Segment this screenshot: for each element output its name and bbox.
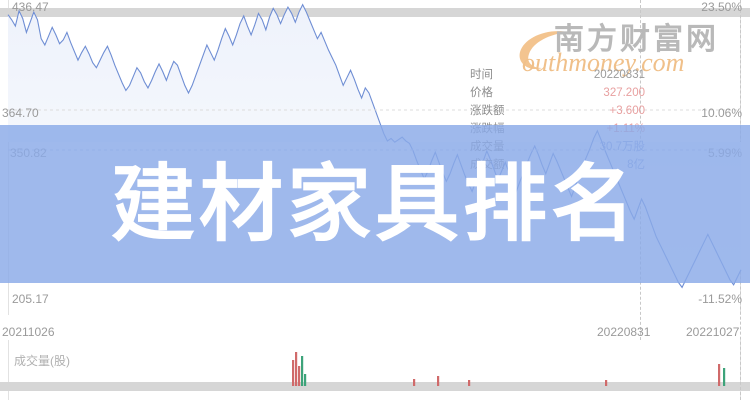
tooltip-value: 327.200 bbox=[603, 84, 645, 102]
volume-bar bbox=[413, 379, 415, 386]
volume-bar bbox=[437, 376, 439, 386]
volume-axis-caption: 成交量(股) bbox=[14, 352, 70, 369]
tooltip-key: 涨跌额 bbox=[470, 102, 505, 120]
date-tick-mid: 20220831 bbox=[597, 325, 650, 339]
stock-chart-screenshot: 436.47 364.70 350.82 205.17 23.50% 10.06… bbox=[0, 0, 750, 400]
price-tick-0: 436.47 bbox=[12, 0, 49, 14]
percent-tick-3: -11.52% bbox=[698, 292, 742, 306]
tooltip-value: +3.600 bbox=[610, 102, 646, 120]
tooltip-key: 价格 bbox=[470, 84, 493, 102]
tooltip-row: 涨跌额 +3.600 bbox=[470, 102, 645, 120]
overlay-title: 建材家具排名 bbox=[111, 162, 639, 246]
volume-bar bbox=[718, 364, 720, 386]
volume-bar bbox=[301, 356, 303, 386]
volume-bar bbox=[723, 368, 725, 386]
volume-bar bbox=[292, 360, 294, 386]
percent-tick-0: 23.50% bbox=[701, 0, 742, 14]
tooltip-value: 20220831 bbox=[594, 66, 645, 84]
tooltip-key: 时间 bbox=[470, 66, 493, 84]
tooltip-row: 价格 327.200 bbox=[470, 84, 645, 102]
date-tick-end: 20221027 bbox=[686, 325, 739, 339]
tooltip-row: 时间 20220831 bbox=[470, 66, 645, 84]
title-banner-text-wrap: 建材家具排名 bbox=[0, 125, 750, 283]
volume-bar bbox=[304, 374, 306, 386]
volume-bar bbox=[298, 366, 300, 386]
price-tick-1: 364.70 bbox=[2, 106, 39, 120]
volume-bar bbox=[468, 380, 470, 386]
percent-tick-1: 10.06% bbox=[701, 106, 742, 120]
price-tick-3: 205.17 bbox=[12, 292, 49, 306]
volume-bar bbox=[295, 352, 297, 386]
date-tick-start: 20211026 bbox=[2, 325, 55, 339]
volume-bar bbox=[605, 380, 607, 386]
